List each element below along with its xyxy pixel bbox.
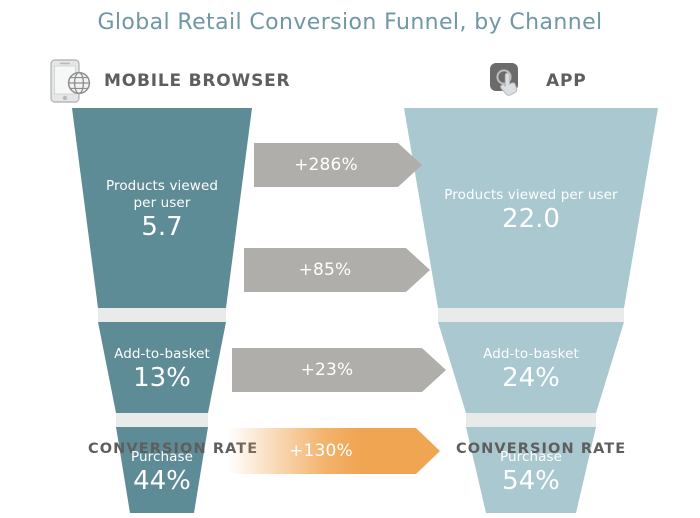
segment-label: Products viewed [106,178,218,195]
segment-label: Purchase [500,449,562,466]
funnel-connector-2 [466,413,596,427]
segment-value: 24% [502,364,560,393]
segment-value: 13% [133,364,191,393]
app-tap-hand-icon [488,58,534,104]
conversion-rate-arrow: +130% [228,428,440,474]
segment-label: Add-to-basket [114,346,210,363]
segment-value: 22.0 [502,205,560,234]
funnel-segment-purchase: Purchase 54% [404,427,658,513]
funnel-connector-1 [98,308,226,322]
uplift-arrow-products-viewed: +286% [254,143,422,187]
segment-label-line2: per user [134,195,191,212]
uplift-value: +85% [299,260,376,280]
uplift-value: +23% [301,360,378,380]
segment-value: 54% [502,467,560,496]
funnel-segment-products-viewed: Products viewed per user 5.7 [72,108,252,308]
channel-header-app: APP [488,58,586,104]
funnel-segment-add-to-basket: Add-to-basket 24% [404,322,658,413]
uplift-value: +286% [294,155,382,175]
infographic-canvas: Global Retail Conversion Funnel, by Chan… [0,0,700,510]
channel-name-app: APP [546,71,586,91]
funnel-connector-2 [116,413,208,427]
channel-name-mobile-browser: MOBILE BROWSER [104,71,290,91]
mobile-phone-globe-icon [48,58,92,104]
segment-label: Products viewed per user [444,187,617,204]
uplift-arrow-add-to-basket: +85% [244,248,430,292]
conversion-rate-value: +130% [228,428,440,474]
channel-header-mobile-browser: MOBILE BROWSER [48,58,290,104]
funnel-app: Products viewed per user 22.0 Add-to-bas… [404,108,658,413]
funnel-segment-purchase: Purchase 44% [72,427,252,513]
funnel-segment-products-viewed: Products viewed per user 22.0 [404,108,658,308]
segment-label: Purchase [131,449,193,466]
funnel-connector-1 [438,308,624,322]
page-title: Global Retail Conversion Funnel, by Chan… [0,10,700,35]
funnel-mobile-browser: Products viewed per user 5.7 Add-to-bask… [72,108,252,413]
segment-label: Add-to-basket [483,346,579,363]
segment-value: 44% [133,467,191,496]
funnel-segment-add-to-basket: Add-to-basket 13% [72,322,252,413]
segment-value: 5.7 [141,213,182,242]
